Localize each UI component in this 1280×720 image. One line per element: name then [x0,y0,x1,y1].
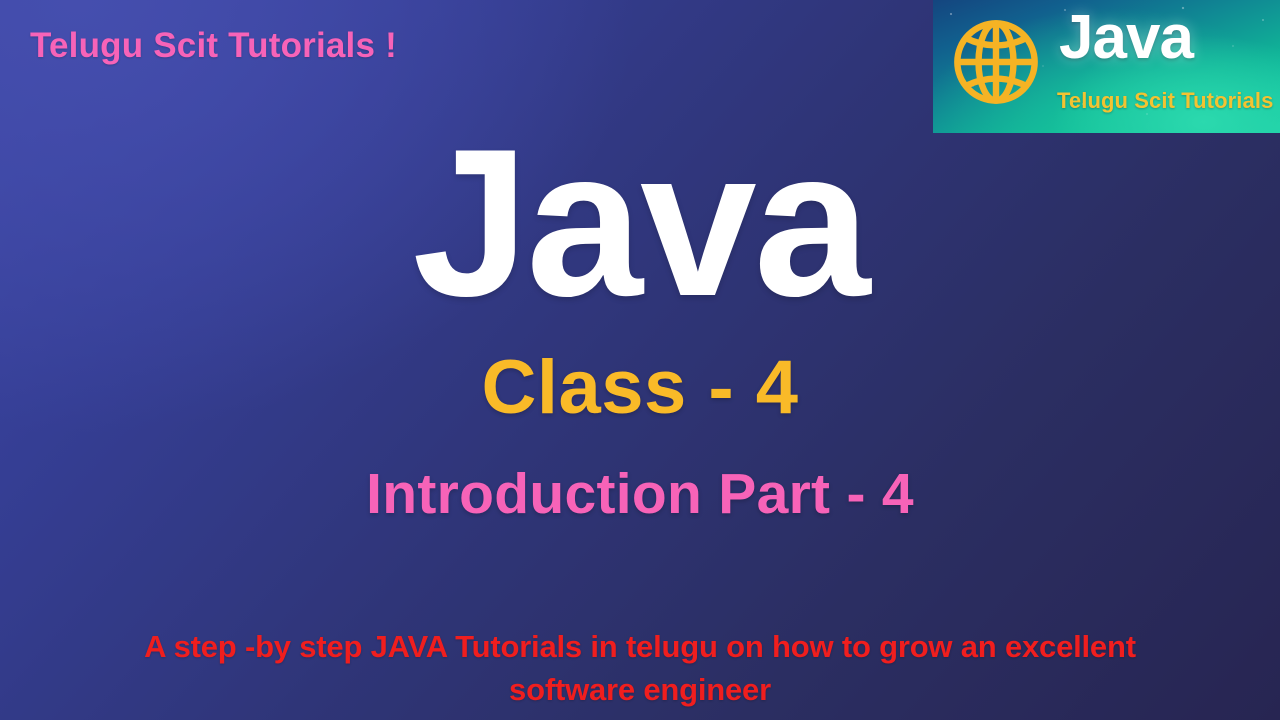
center-text-stack: Java Class - 4 Introduction Part - 4 [0,118,1280,523]
page-title: Java [0,118,1280,328]
class-label: Class - 4 [0,350,1280,426]
globe-icon [950,16,1042,108]
video-thumbnail-slide: Telugu Scit Tutorials ! Java Telugu Scit… [0,0,1280,720]
description-text: A step -by step JAVA Tutorials in telugu… [0,626,1280,712]
part-label: Introduction Part - 4 [0,466,1280,523]
description-line-1: A step -by step JAVA Tutorials in telugu… [0,626,1280,669]
channel-name-heading: Telugu Scit Tutorials ! [30,26,397,66]
badge-title: Java [1059,7,1193,69]
channel-logo-badge: Java Telugu Scit Tutorials [933,0,1280,133]
description-line-2: software engineer [0,669,1280,712]
badge-subtitle: Telugu Scit Tutorials [1057,88,1273,114]
